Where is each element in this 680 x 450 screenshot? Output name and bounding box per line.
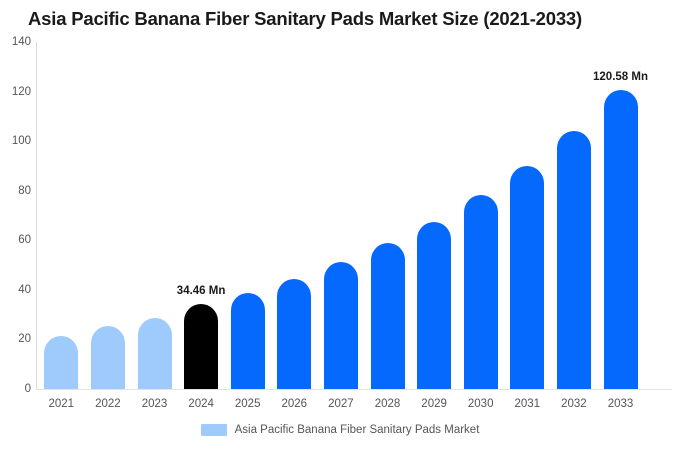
bar-2022[interactable] <box>91 326 125 389</box>
bar-2026[interactable] <box>277 279 311 389</box>
bar-2023[interactable] <box>138 318 172 389</box>
x-axis-tick-2024: 2024 <box>178 398 224 410</box>
x-axis-tick-2033: 2033 <box>598 398 644 410</box>
bar-2033[interactable] <box>604 90 638 389</box>
chart-legend: Asia Pacific Banana Fiber Sanitary Pads … <box>0 424 680 436</box>
x-axis-tick-2023: 2023 <box>132 398 178 410</box>
chart-container: Asia Pacific Banana Fiber Sanitary Pads … <box>0 0 680 450</box>
x-axis-tick-2029: 2029 <box>411 398 457 410</box>
bar-2024[interactable] <box>184 304 218 389</box>
bar-value-label-2033: 120.58 Mn <box>593 71 648 83</box>
x-axis-tick-2022: 2022 <box>85 398 131 410</box>
bar-2031[interactable] <box>510 166 544 389</box>
bar-2028[interactable] <box>371 243 405 389</box>
x-axis-tick-2021: 2021 <box>38 398 84 410</box>
x-axis-tick-2026: 2026 <box>271 398 317 410</box>
bar-2027[interactable] <box>324 262 358 389</box>
legend-swatch-icon <box>201 424 227 436</box>
bar-2032[interactable] <box>557 131 591 389</box>
legend-item-label: Asia Pacific Banana Fiber Sanitary Pads … <box>235 424 480 436</box>
x-axis-tick-2028: 2028 <box>365 398 411 410</box>
x-axis-tick-2027: 2027 <box>318 398 364 410</box>
x-axis-tick-2032: 2032 <box>551 398 597 410</box>
bar-2021[interactable] <box>44 336 78 389</box>
bar-2029[interactable] <box>417 222 451 389</box>
bar-2030[interactable] <box>464 195 498 389</box>
bar-value-label-2024: 34.46 Mn <box>177 285 226 297</box>
x-axis-tick-2025: 2025 <box>225 398 271 410</box>
bar-2025[interactable] <box>231 293 265 389</box>
x-axis-tick-2030: 2030 <box>458 398 504 410</box>
x-axis-tick-2031: 2031 <box>504 398 550 410</box>
bars-layer: 20212022202334.46 Mn20242025202620272028… <box>0 0 680 450</box>
